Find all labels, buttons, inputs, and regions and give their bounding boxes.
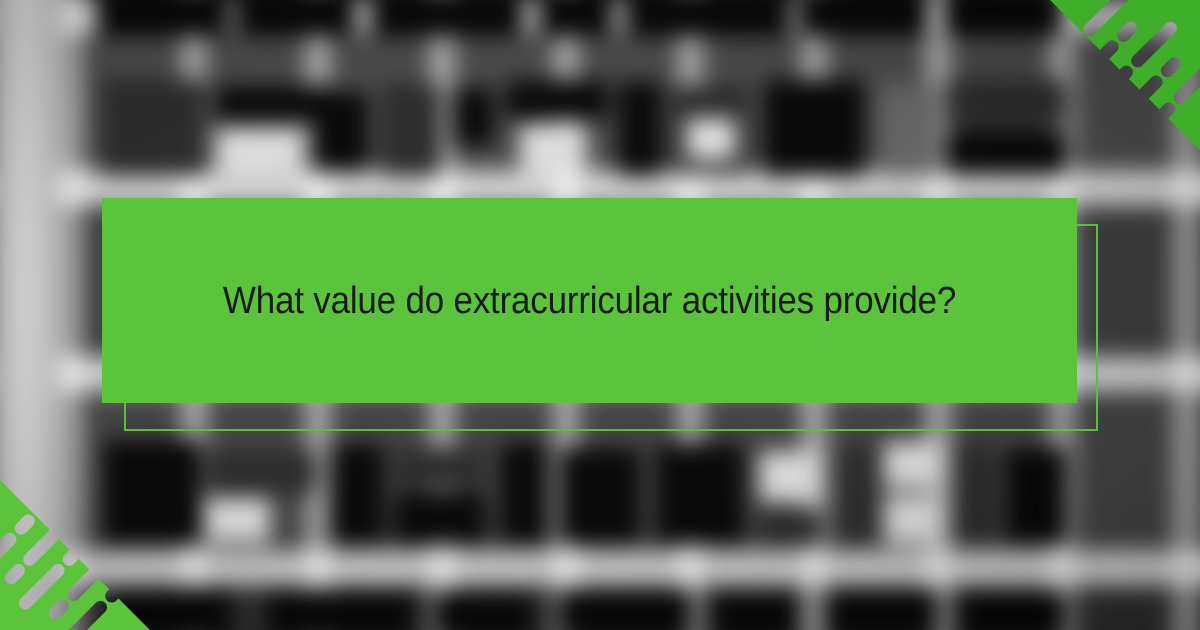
diagonal-dash-corner-icon-bottom-left <box>0 480 150 630</box>
headline-banner: What value do extracurricular activities… <box>102 198 1077 403</box>
page-title: What value do extracurricular activities… <box>181 272 997 330</box>
share-card-canvas: What value do extracurricular activities… <box>0 0 1200 630</box>
diagonal-dash-corner-icon-top-right <box>1050 0 1200 150</box>
